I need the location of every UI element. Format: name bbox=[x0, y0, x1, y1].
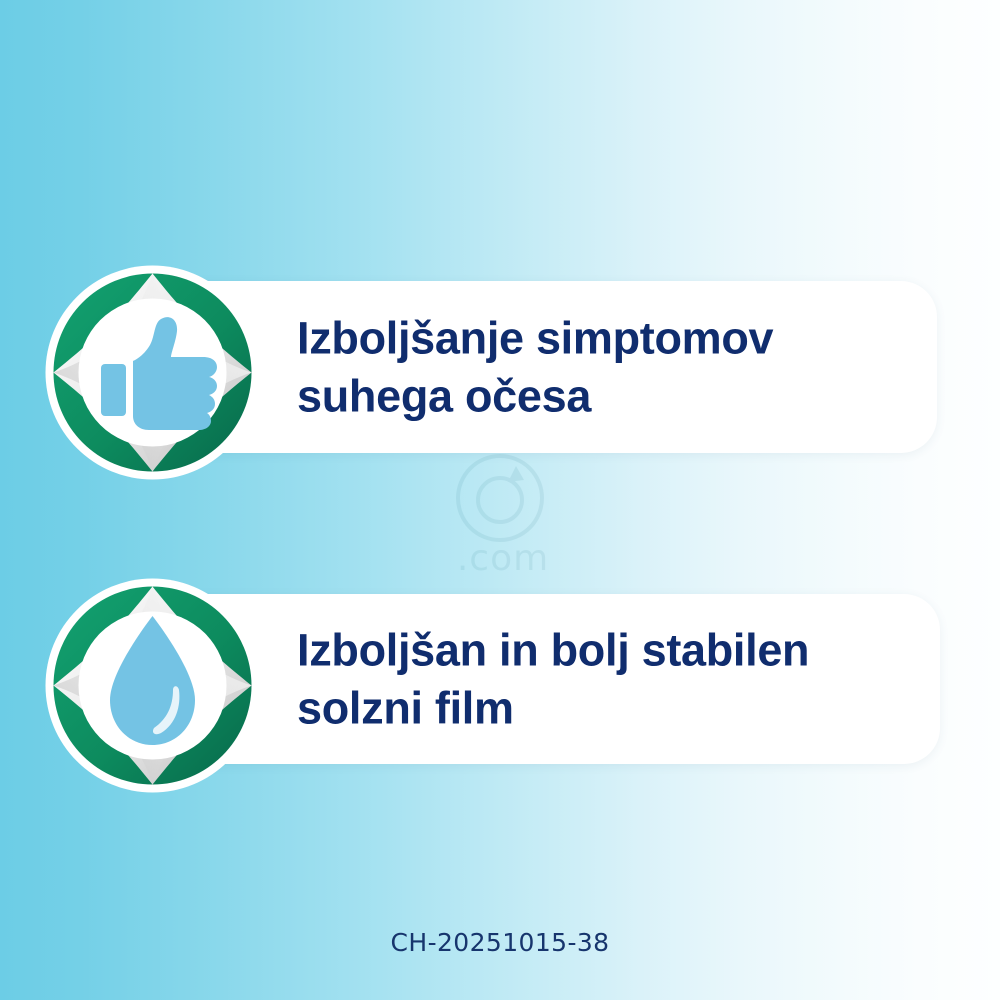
watermark-label: .com bbox=[418, 538, 588, 579]
benefit-row-2: Izboljšan in bolj stabilen solzni film bbox=[0, 578, 1000, 793]
poster-canvas: .com Izboljšanje simptomov suhega očesa bbox=[0, 0, 1000, 1000]
benefit-text-1: Izboljšanje simptomov suhega očesa bbox=[297, 309, 917, 424]
footer-reference-code: CH-20251015-38 bbox=[0, 928, 1000, 957]
benefit-row-1: Izboljšanje simptomov suhega očesa bbox=[0, 265, 1000, 480]
benefit-badge-2 bbox=[45, 578, 260, 793]
benefit-badge-1 bbox=[45, 265, 260, 480]
benefit-text-2: Izboljšan in bolj stabilen solzni film bbox=[297, 621, 947, 736]
